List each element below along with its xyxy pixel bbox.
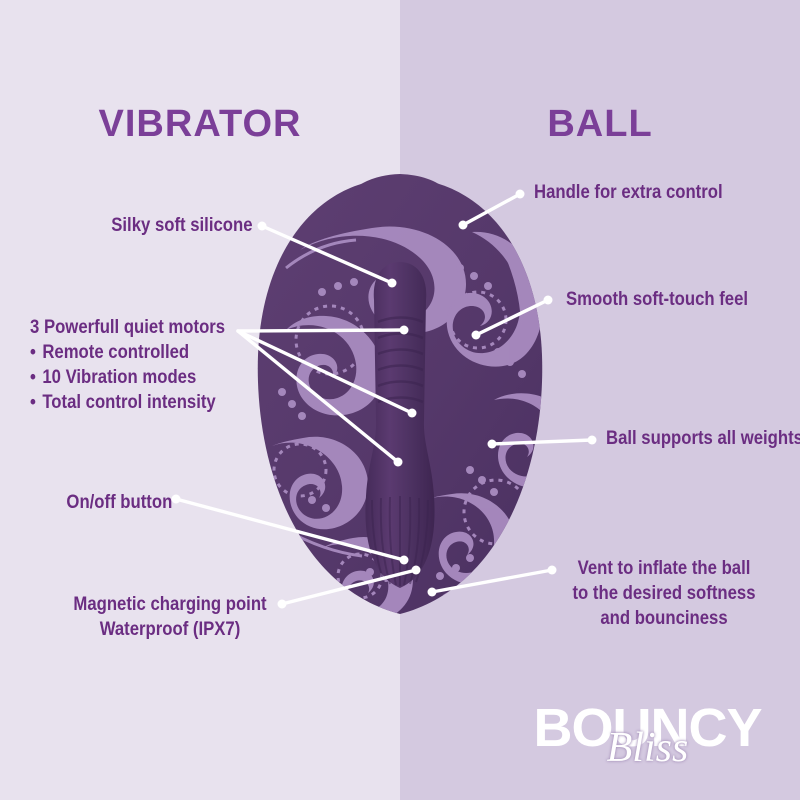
feature-line-intensity: Total control intensity: [30, 390, 225, 415]
charging-line-1: Magnetic charging point: [56, 592, 285, 617]
vent-line-3: and bounciness: [569, 606, 759, 631]
brand-logo: BOUNCY Bliss: [505, 700, 790, 780]
feature-line-motors: 3 Powerfull quiet motors: [30, 315, 225, 340]
callout-ball-supports-all-weights: Ball supports all weights: [606, 426, 800, 451]
callout-on-off-button: On/off button: [66, 490, 172, 515]
feature-line-modes: 10 Vibration modes: [30, 365, 225, 390]
motors-feature-list: 3 Powerfull quiet motors Remote controll…: [30, 315, 225, 415]
vent-line-2: to the desired softness: [569, 581, 759, 606]
charging-line-2: Waterproof (IPX7): [56, 617, 285, 642]
callout-magnetic-charging-waterproof: Magnetic charging point Waterproof (IPX7…: [56, 592, 285, 642]
section-heading-ball: BALL: [400, 103, 800, 146]
callout-silky-soft-silicone: Silky soft silicone: [111, 213, 252, 238]
callout-vent-to-inflate: Vent to inflate the ball to the desired …: [569, 556, 759, 631]
product-infographic: VIBRATOR BALL Silky soft silicone 3 Powe…: [0, 0, 800, 800]
callout-handle-for-extra-control: Handle for extra control: [534, 180, 723, 205]
callout-smooth-soft-touch-feel: Smooth soft-touch feel: [566, 287, 748, 312]
callout-motors-features: 3 Powerfull quiet motors Remote controll…: [30, 315, 225, 415]
feature-line-remote: Remote controlled: [30, 340, 225, 365]
brand-logo-script: Bliss: [505, 726, 790, 770]
section-heading-vibrator: VIBRATOR: [0, 103, 400, 146]
vent-line-1: Vent to inflate the ball: [569, 556, 759, 581]
